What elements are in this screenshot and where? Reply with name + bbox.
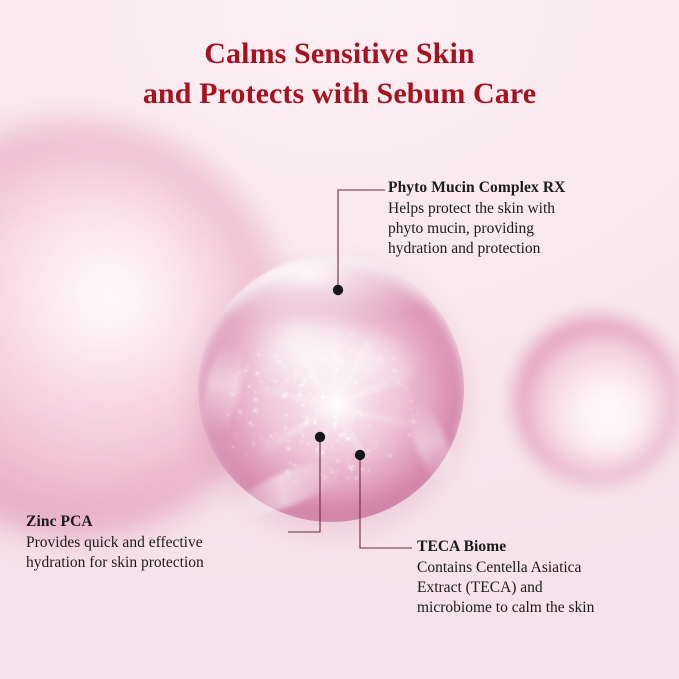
callout-body-line: Helps protect the skin with: [388, 199, 668, 219]
callout-title-phyto-mucin-complex-rx: Phyto Mucin Complex RX: [388, 179, 668, 198]
callout-body-line: Provides quick and effective: [26, 533, 316, 553]
blurred-pink-sphere-right-rim: [515, 318, 679, 484]
page-title: Calms Sensitive Skin and Protects with S…: [0, 34, 679, 113]
callout-body-phyto-mucin-complex-rx: Helps protect the skin with phyto mucin,…: [388, 199, 668, 258]
callout-title-teca-biome: TECA Biome: [417, 538, 675, 557]
callout-body-line: microbiome to calm the skin: [417, 598, 675, 618]
callout-body-teca-biome: Contains Centella Asiatica Extract (TECA…: [417, 558, 675, 617]
callout-title-zinc-pca: Zinc PCA: [26, 513, 316, 532]
callout-body-zinc-pca: Provides quick and effective hydration f…: [26, 533, 316, 573]
callout-zinc-pca: Zinc PCA Provides quick and effective hy…: [26, 513, 316, 573]
callout-teca-biome: TECA Biome Contains Centella Asiatica Ex…: [417, 538, 675, 617]
hero-serum-sphere: [198, 256, 464, 522]
callout-body-line: Contains Centella Asiatica: [417, 558, 675, 578]
callout-body-line: Extract (TECA) and: [417, 578, 675, 598]
page-title-line-2: and Protects with Sebum Care: [0, 74, 679, 114]
callout-body-line: phyto mucin, providing: [388, 219, 668, 239]
callout-phyto-mucin-complex-rx: Phyto Mucin Complex RX Helps protect the…: [388, 179, 668, 258]
callout-body-line: hydration and protection: [388, 239, 668, 259]
page-title-line-1: Calms Sensitive Skin: [0, 34, 679, 74]
callout-body-line: hydration for skin protection: [26, 553, 316, 573]
product-infographic: Calms Sensitive Skin and Protects with S…: [0, 0, 679, 679]
